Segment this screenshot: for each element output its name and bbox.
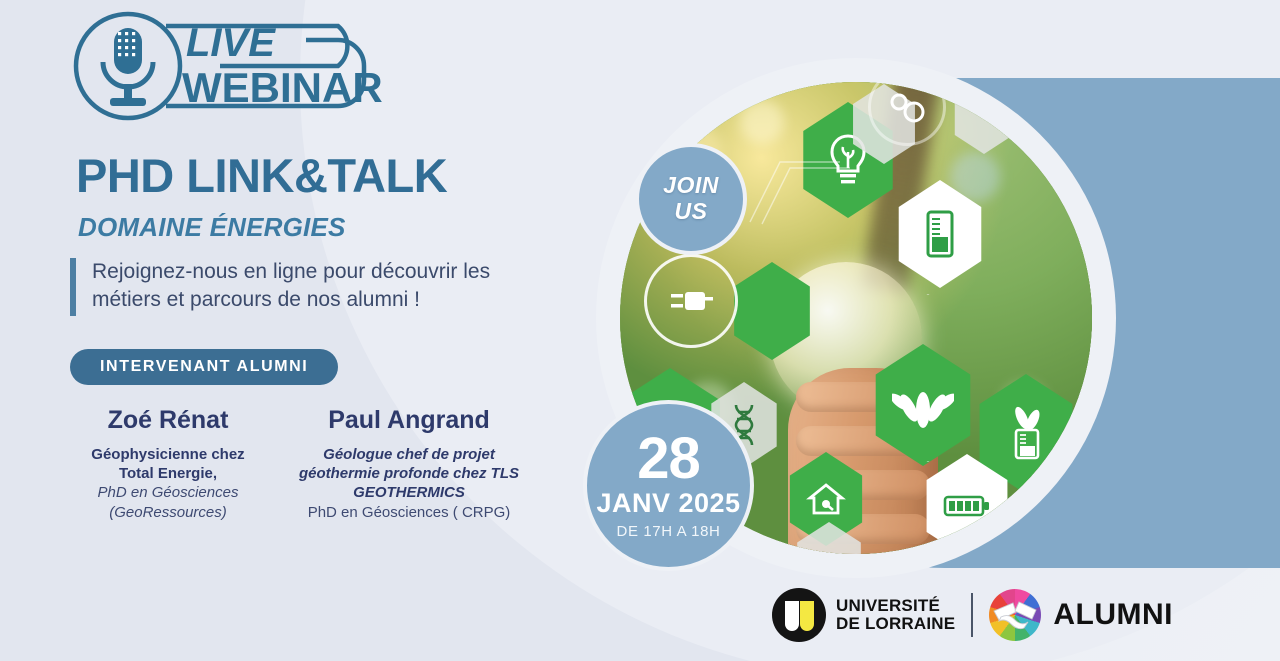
ul-u-shape (785, 601, 799, 631)
logo-live-text: LIVE (186, 21, 276, 65)
speaker-degree: PhD en Géosciences (60, 483, 276, 502)
speaker-degree: PhD en Géosciences ( CRPG) (284, 503, 534, 522)
footer-logos: UNIVERSITÉ DE LORRAINE ALUMNI (772, 588, 1173, 642)
logo-webinar-text: WEBINAR (182, 64, 383, 111)
speaker-company: GEOTHERMICS (284, 483, 534, 502)
speaker-company: Total Energie, (60, 464, 276, 483)
ul-l-shape (800, 601, 814, 631)
universite-de-lorraine-icon (772, 588, 826, 642)
date-day: 28 (637, 431, 700, 486)
speaker-lab: (GeoRessources) (60, 503, 276, 522)
intervenant-alumni-badge: INTERVENANT ALUMNI (70, 349, 338, 385)
join-us-badge[interactable]: JOIN US (635, 143, 747, 255)
university-line-2: DE LORRAINE (836, 615, 955, 633)
date-month: JANV 2025 (596, 488, 740, 519)
join-us-line1: JOIN (663, 173, 719, 199)
speaker-role: Géophysicienne chez (60, 445, 276, 464)
description-text: Rejoignez-nous en ligne pour découvrir l… (92, 258, 562, 316)
accent-bar (70, 258, 76, 316)
date-time: DE 17H A 18H (617, 523, 721, 540)
alumni-pinwheel-icon (989, 589, 1041, 641)
join-us-line2: US (675, 199, 708, 225)
webinar-poster: JOIN US 28 JANV 2025 DE 17H A 18H (0, 0, 1280, 661)
live-webinar-logo: LIVE WEBINAR (70, 10, 390, 122)
page-title: PHD LINK&TALK (76, 148, 447, 203)
description-block: Rejoignez-nous en ligne pour découvrir l… (70, 258, 562, 316)
speaker-role-cont: géothermie profonde chez TLS (284, 464, 534, 483)
universite-de-lorraine-text: UNIVERSITÉ DE LORRAINE (836, 597, 955, 633)
speaker-name: Paul Angrand (284, 405, 534, 435)
bokeh-dot (740, 100, 784, 144)
plug-ring-icon (644, 254, 738, 348)
alumni-label: ALUMNI (1053, 598, 1173, 632)
university-line-1: UNIVERSITÉ (836, 597, 955, 615)
speaker-card-2: Paul Angrand Géologue chef de projet géo… (284, 405, 534, 522)
date-badge: 28 JANV 2025 DE 17H A 18H (583, 400, 754, 571)
logo-divider (971, 593, 973, 637)
speaker-role: Géologue chef de projet (284, 445, 534, 464)
speaker-card-1: Zoé Rénat Géophysicienne chez Total Ener… (60, 405, 276, 522)
speaker-name: Zoé Rénat (60, 405, 276, 435)
page-subtitle: DOMAINE ÉNERGIES (78, 212, 346, 243)
connector-lines (740, 142, 860, 232)
speakers-list: Zoé Rénat Géophysicienne chez Total Ener… (60, 405, 540, 522)
